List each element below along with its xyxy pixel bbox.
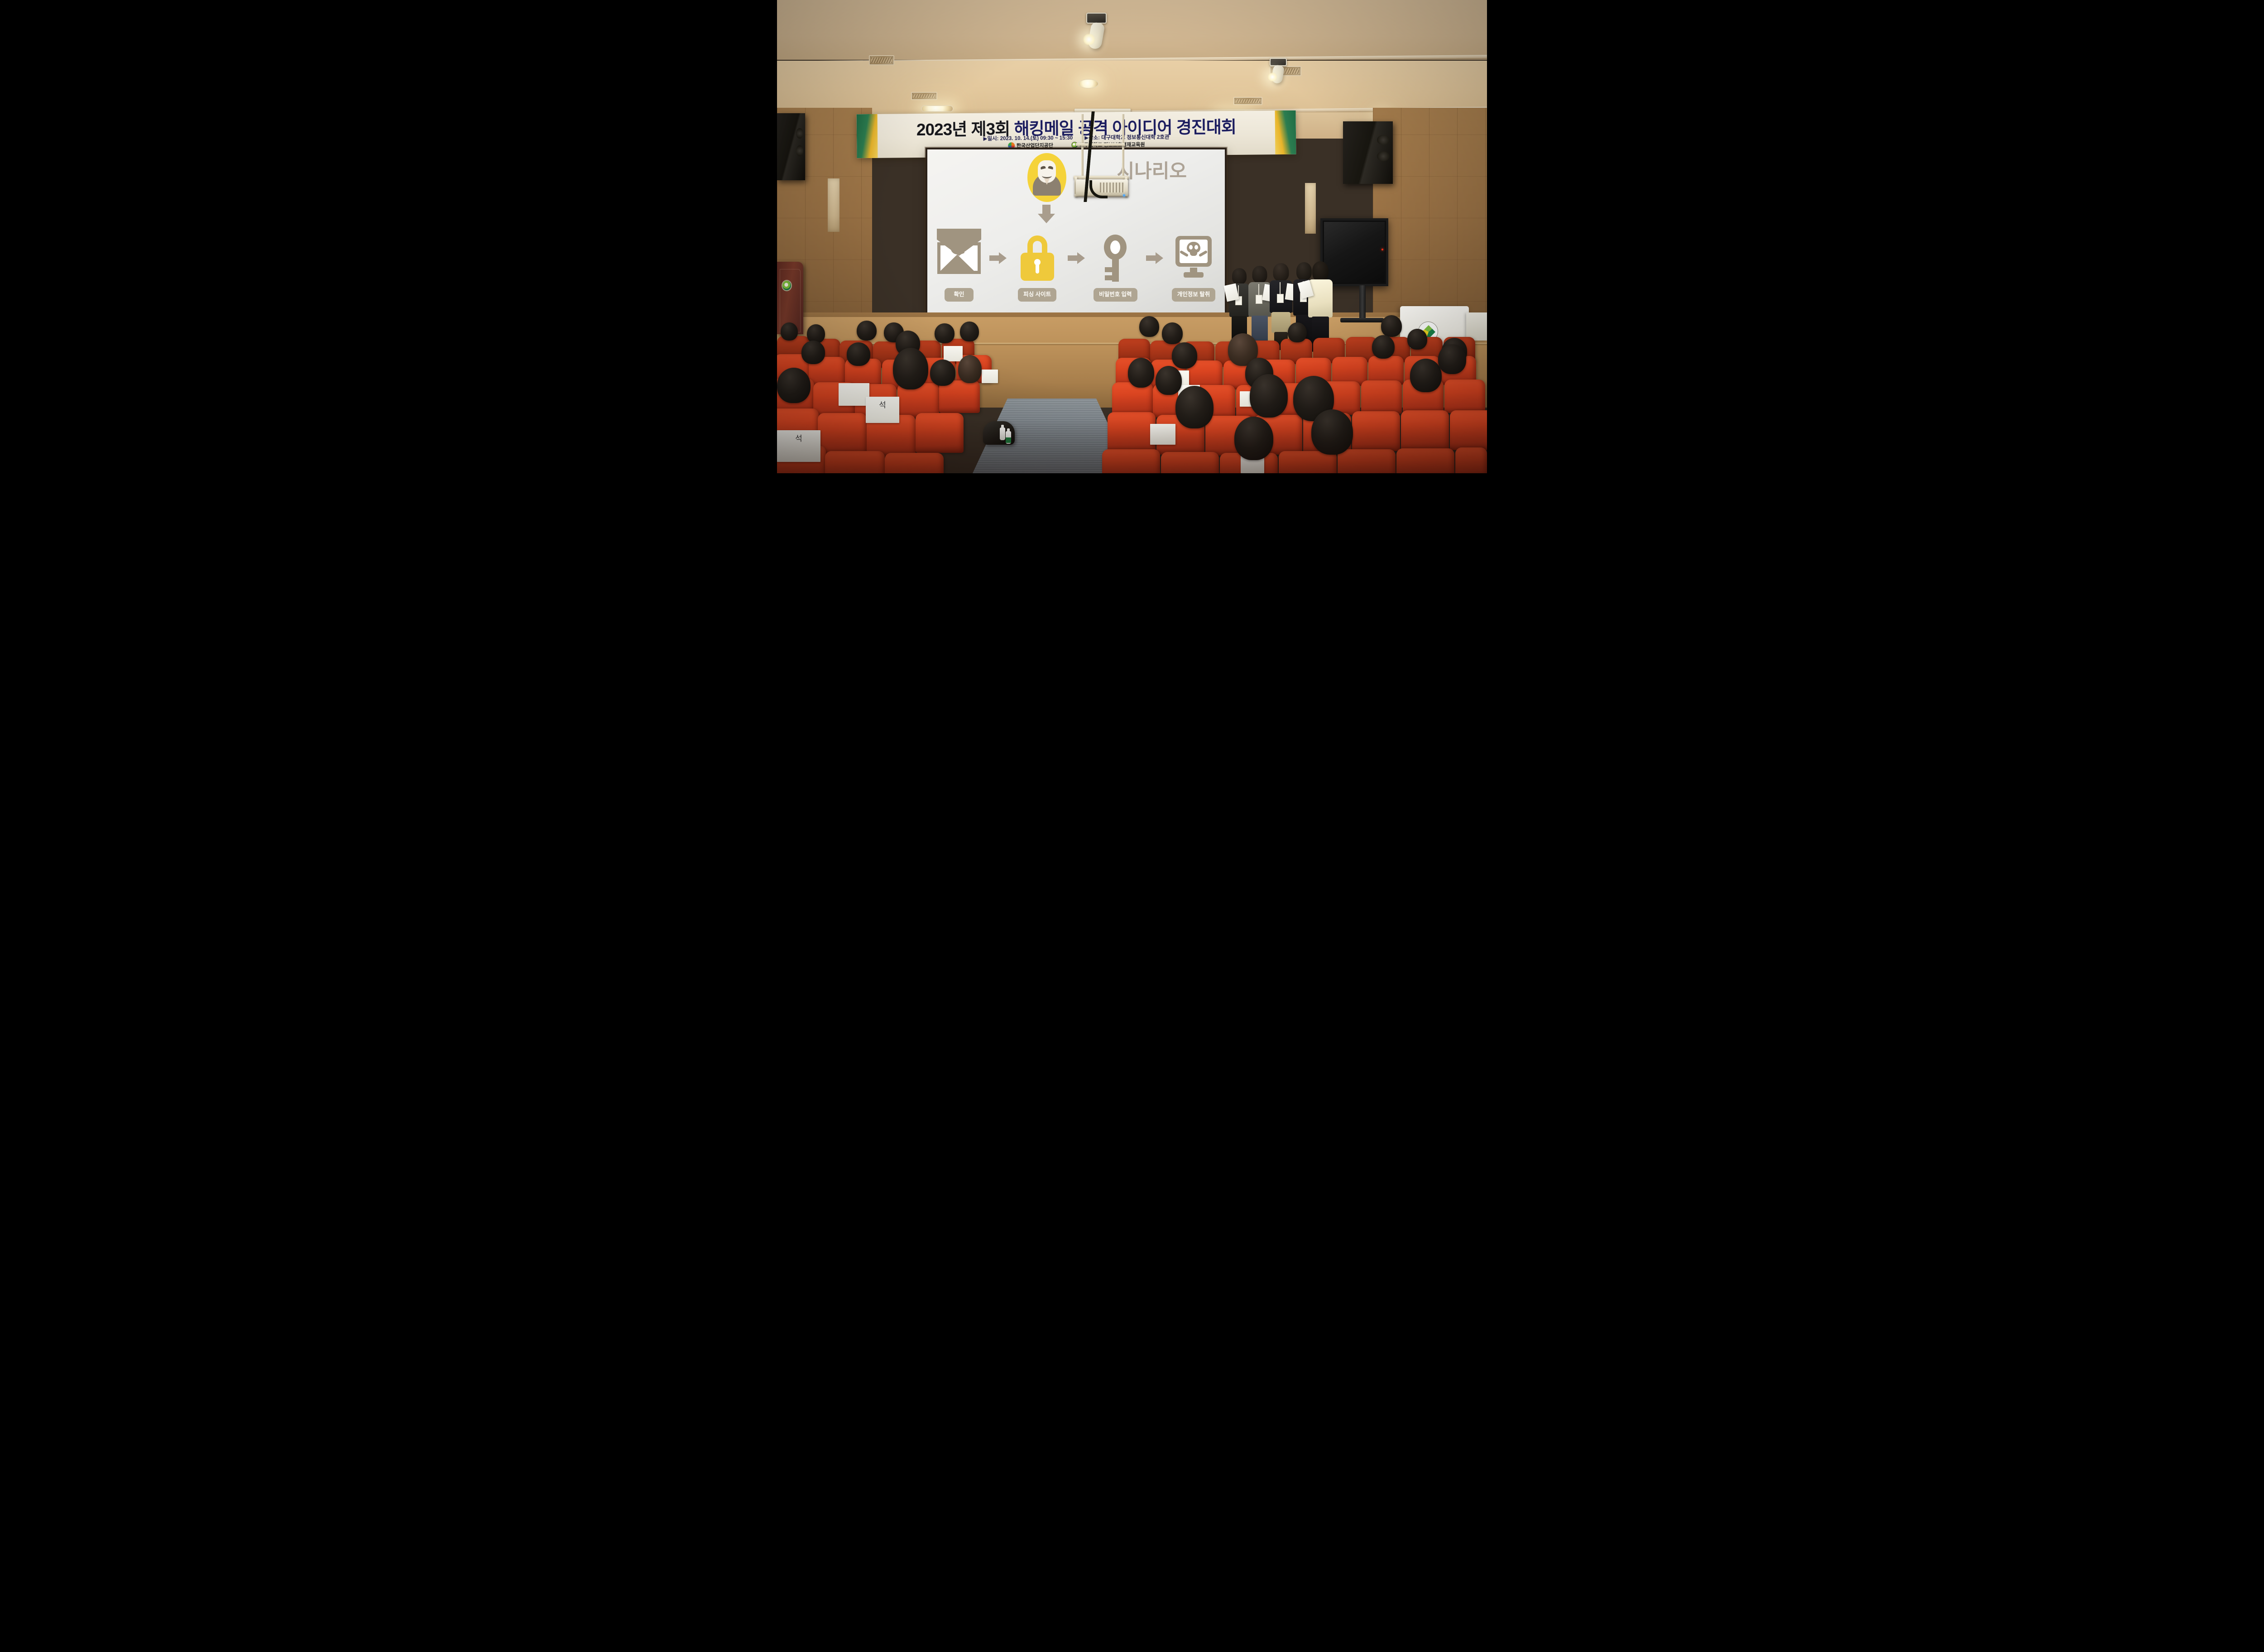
audience-head-1 [781, 322, 798, 341]
audience-head-25 [1410, 359, 1442, 392]
seat-l-r5-3[interactable] [885, 453, 944, 473]
audience-head-22 [1172, 342, 1197, 369]
audience-head-15 [1162, 322, 1183, 344]
audience-head-16 [1288, 322, 1307, 342]
seat-r-r3-1[interactable] [1112, 382, 1153, 416]
seat-r-r5-7[interactable] [1455, 447, 1487, 473]
presenter-3-name-badge [1277, 294, 1284, 303]
mask-smile [1042, 173, 1052, 178]
seat-l-r5-2[interactable] [825, 451, 885, 473]
mask-goatee [1044, 178, 1050, 185]
kicox-logo-icon [1008, 142, 1015, 149]
key-icon [1101, 233, 1129, 283]
ceiling-vent-3 [911, 92, 937, 100]
seat-r-r5-5[interactable] [1338, 449, 1396, 473]
presenter-1 [1229, 268, 1250, 344]
ceiling-vent-4 [1233, 97, 1262, 105]
podium-side-panel [1466, 312, 1487, 341]
spotlight-glow-1 [1083, 34, 1095, 45]
seat-l-r4-4[interactable] [916, 413, 964, 453]
tv-stand-pole [1359, 285, 1366, 321]
flow-arrow-2-icon [1066, 233, 1086, 283]
audience-head-32 [1372, 335, 1395, 359]
flow-step-1-label: 확인 [945, 288, 974, 302]
flow-arrow-1-icon [988, 233, 1008, 283]
flow-arrow-3-icon [1145, 233, 1165, 283]
auditorium-scene: 2023년 제3회 해킹메일 공격 아이디어 경진대회 ▶일시: 2023. 1… [777, 0, 1487, 473]
audience-head-17 [1381, 315, 1402, 337]
audience-head-21 [1156, 366, 1182, 395]
presenter-5-torso [1308, 279, 1333, 317]
mail-at-icon: @ [937, 233, 981, 283]
water-bottle-1 [1000, 427, 1005, 440]
banner-edge-right [1275, 110, 1296, 154]
flow-step-2-label: 피싱 사이트 [1018, 288, 1056, 302]
seat-sign-left-3: 석 [777, 430, 820, 462]
flow-step-1: @ 확인 [934, 233, 984, 302]
presenter-2 [1248, 266, 1271, 347]
ceiling-vent-1 [869, 55, 894, 65]
seat-sign-left-4 [944, 346, 963, 361]
seat-r-r3-9[interactable] [1444, 379, 1485, 413]
ceiling-mid-panel [777, 61, 1487, 112]
flow-step-2: 피싱 사이트 [1012, 233, 1063, 302]
seat-r-r4-7[interactable] [1401, 410, 1449, 450]
ceiling-downlight-1 [1078, 79, 1099, 89]
audience-head-28 [1250, 374, 1288, 418]
presenter-2-lanyard [1258, 284, 1259, 296]
presenter-3-head [1273, 263, 1289, 281]
audience-head-6 [960, 322, 979, 341]
projector-crossbar-lower [1074, 176, 1129, 179]
projector-rod-left [1081, 114, 1084, 182]
audience-head-13 [958, 355, 982, 383]
podium-emblem-icon [782, 280, 792, 291]
skull-monitor-icon [1175, 233, 1212, 283]
audience-head-14 [1139, 316, 1159, 337]
ceiling-far-panel [777, 0, 1487, 60]
attack-flow-diagram: @ 확인 피싱 사이트 [934, 233, 1219, 314]
tv-standby-led [1381, 249, 1383, 250]
seat-sign-left-2: 석 [866, 397, 899, 423]
audience-head-5 [935, 323, 955, 343]
presenter-5-head [1312, 261, 1329, 281]
audience-head-27 [1175, 386, 1214, 428]
hacker-avatar [1027, 153, 1066, 202]
audience-head-2 [807, 324, 825, 343]
seat-r-r3-7[interactable] [1361, 380, 1402, 414]
audience-head-26 [1438, 344, 1466, 374]
seat-r-r4-1[interactable] [1108, 412, 1156, 452]
presenter-2-head [1252, 266, 1267, 283]
wall-panel-left [828, 178, 839, 232]
anonymous-mask-icon [1038, 160, 1056, 183]
presenter-2-name-badge [1256, 295, 1262, 304]
projector-rod-right [1122, 114, 1124, 182]
audience-head-10 [930, 360, 955, 386]
seat-sign-left-1 [839, 383, 869, 406]
seat-r-r5-1[interactable] [1102, 449, 1160, 473]
audience-head-12 [777, 368, 811, 403]
projector-power-led [1123, 194, 1125, 197]
audience-head-11 [893, 348, 928, 389]
seat-r-r4-6[interactable] [1352, 411, 1400, 451]
ceiling-downlight-2 [921, 105, 954, 112]
flow-step-4-label: 개인정보 탈취 [1172, 288, 1215, 302]
sponsor-kicox: 한국산업단지공단 [1008, 141, 1053, 149]
water-bottle-2 [1006, 431, 1011, 444]
presenter-3-lanyard [1280, 282, 1281, 295]
audience-head-31 [1234, 417, 1273, 460]
seat-r-r5-2[interactable] [1161, 452, 1219, 473]
banner-date: ▶일시: 2023. 10. 14.(토) 09:30 ~ 15:30 [983, 134, 1073, 142]
spotlight-glow-2 [1268, 72, 1277, 82]
tv-screen-pane [1324, 222, 1385, 283]
presenter-1-head [1232, 268, 1247, 284]
audience-head-20 [1128, 358, 1154, 388]
banner-edge-left [857, 114, 878, 158]
tv-stand-base [1340, 318, 1384, 322]
audience-head-7 [801, 341, 825, 364]
seat-r-r4-8[interactable] [1450, 410, 1487, 450]
audience-head-8 [847, 342, 870, 366]
seat-sign-right-4 [1150, 424, 1175, 445]
audience-head-3 [857, 321, 877, 341]
seat-r-r5-6[interactable] [1396, 448, 1454, 473]
flow-step-3-label: 비밀번호 입력 [1094, 288, 1137, 302]
flow-step-4: 개인정보 탈취 [1168, 233, 1219, 302]
flow-step-3: 비밀번호 입력 [1090, 233, 1141, 302]
pa-speaker-right [1343, 121, 1393, 184]
audience-head-30 [1311, 409, 1353, 455]
pa-speaker-left [777, 113, 805, 180]
sponsor-1-label: 한국산업단지공단 [1017, 141, 1053, 149]
spotlight-head-1 [1086, 13, 1107, 24]
wall-panel-right [1305, 183, 1316, 234]
padlock-icon [1021, 233, 1054, 283]
seat-sign-left-5 [982, 370, 998, 383]
audience-head-18 [1407, 329, 1427, 350]
